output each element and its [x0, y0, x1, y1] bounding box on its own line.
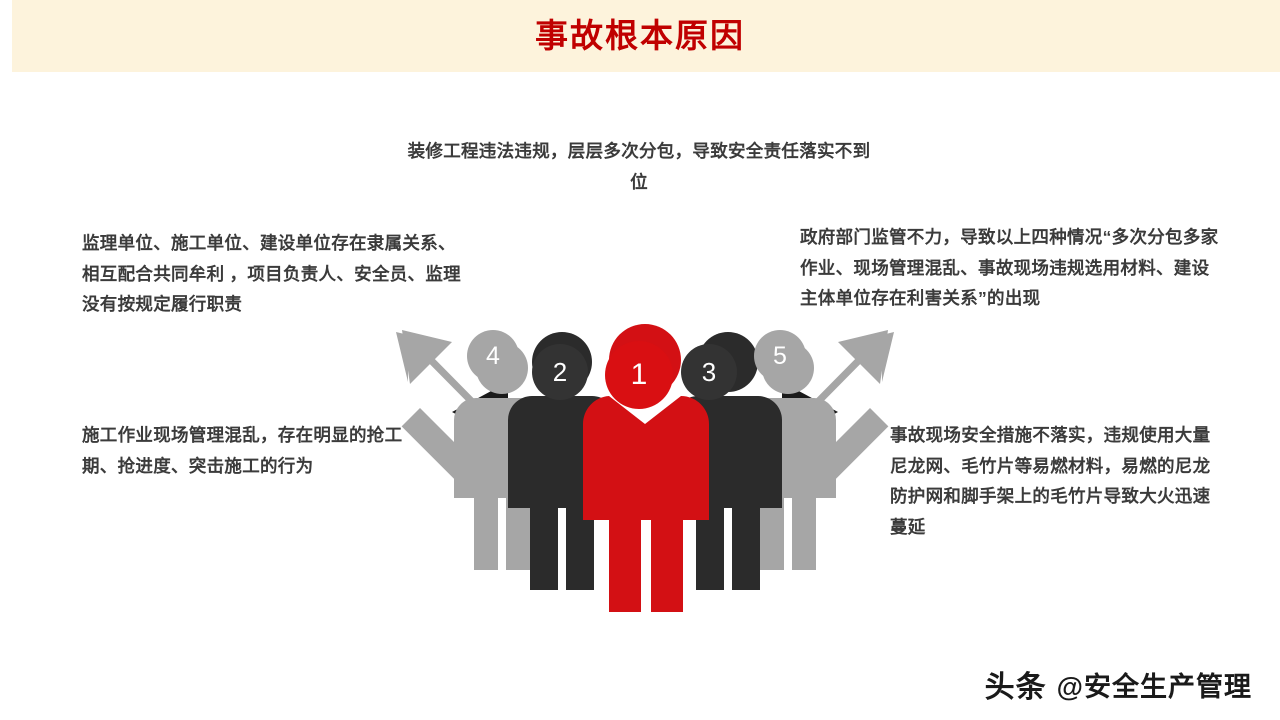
watermark: 头条 @安全生产管理 [985, 662, 1252, 706]
cause-badge-2[interactable]: 2 [532, 344, 588, 400]
cause-badge-1[interactable]: 1 [605, 341, 673, 409]
cause-badge-3[interactable]: 3 [681, 344, 737, 400]
watermark-account-name: @安全生产管理 [1057, 665, 1252, 704]
watermark-logo: 头条 [985, 662, 1047, 706]
cause-text-right-bottom: 事故现场安全措施不落实，违规使用大量尼龙网、毛竹片等易燃材料，易燃的尼龙防护网和… [890, 420, 1220, 543]
slide: 事故根本原因 装修工程违法违规，层层多次分包，导致安全责任落实不到位 监理单位、… [0, 0, 1280, 720]
cause-text-left-top: 监理单位、施工单位、建设单位存在隶属关系、相互配合共同牟利 ，项目负责人、安全员… [82, 228, 462, 320]
cause-text-right-top: 政府部门监管不力，导致以上四种情况“多次分包多家作业、现场管理混乱、事故现场违规… [800, 222, 1220, 314]
cause-text-left-bottom: 施工作业现场管理混乱，存在明显的抢工期、抢进度、突击施工的行为 [82, 420, 412, 481]
cause-badge-5[interactable]: 5 [754, 330, 806, 382]
cause-text-top: 装修工程违法违规，层层多次分包，导致安全责任落实不到位 [404, 136, 874, 197]
cause-badge-4[interactable]: 4 [467, 330, 519, 382]
page-title: 事故根本原因 [0, 0, 1280, 72]
